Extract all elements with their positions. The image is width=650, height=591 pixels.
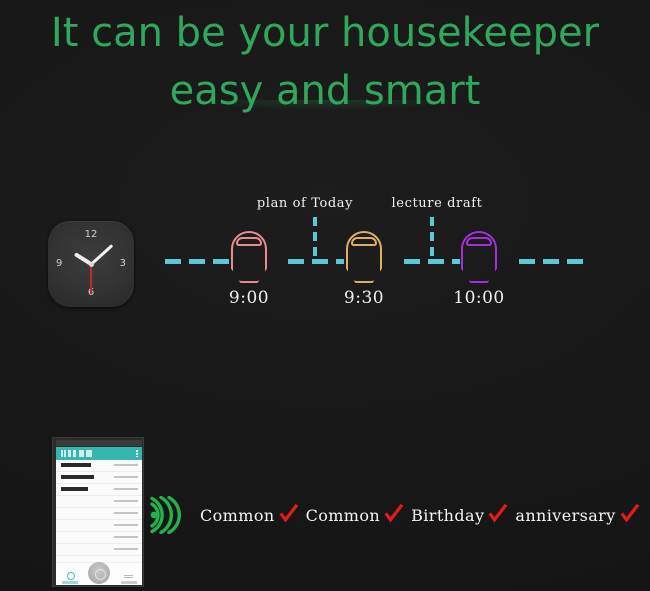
nav-record-button[interactable] [88, 562, 110, 584]
feature-item: Common [306, 503, 412, 527]
timeline-dash-segment [404, 259, 460, 264]
feature-label: anniversary [515, 506, 615, 525]
phone-screen [56, 447, 142, 585]
timeline-time: 9:00 [189, 288, 309, 308]
timeline-time: 10:00 [419, 288, 539, 308]
headline-line-1: It can be your housekeeper [0, 4, 650, 62]
signal-waves-icon [150, 496, 192, 534]
feature-label: Birthday [411, 506, 484, 525]
app-logo-icon [61, 450, 95, 457]
timeline-time: 9:30 [304, 288, 424, 308]
bell-top-arc [236, 237, 262, 246]
phone-bottom-nav[interactable] [56, 562, 142, 585]
timeline-marker-bell-icon[interactable] [231, 231, 267, 283]
list-item[interactable] [56, 460, 142, 472]
overflow-menu-icon[interactable] [136, 450, 138, 457]
timeline-dash-segment [519, 259, 591, 264]
schedule-timeline: plan of Today lecture draft 9:00 9:30 10… [0, 183, 650, 318]
page-title: It can be your housekeeper easy and smar… [0, 4, 650, 120]
feature-label: Common [200, 506, 275, 525]
check-icon [487, 503, 509, 527]
list-item[interactable] [56, 520, 142, 532]
bell-top-arc [351, 237, 377, 246]
check-icon [278, 503, 300, 527]
headline-line-2: easy and smart [0, 62, 650, 120]
check-icon [383, 503, 405, 527]
phone-mockup [52, 437, 144, 587]
nav-person-icon[interactable] [67, 572, 75, 580]
list-item[interactable] [56, 484, 142, 496]
check-icon [619, 503, 641, 527]
nav-list-icon[interactable] [124, 575, 133, 579]
timeline-label: lecture draft [337, 196, 537, 211]
feature-item: Common [200, 503, 306, 527]
timeline-connector-dash [313, 217, 317, 259]
timeline-connector-dash [430, 217, 434, 259]
list-item[interactable] [56, 508, 142, 520]
feature-item: Birthday [411, 503, 515, 527]
timeline-marker-bell-icon[interactable] [461, 231, 497, 283]
feature-label: Common [306, 506, 381, 525]
promo-banner: It can be your housekeeper easy and smar… [0, 0, 650, 591]
phone-earpiece [56, 440, 142, 446]
phone-app-bar [56, 447, 142, 460]
list-item[interactable] [56, 472, 142, 484]
list-item[interactable] [56, 532, 142, 544]
timeline-dash-segment [165, 259, 230, 264]
list-item[interactable] [56, 544, 142, 556]
nav-left-label [62, 581, 78, 584]
list-item[interactable] [56, 496, 142, 508]
timeline-marker-bell-icon[interactable] [346, 231, 382, 283]
bell-top-arc [466, 237, 492, 246]
nav-right-label [121, 581, 137, 584]
phone-reminder-list[interactable] [56, 460, 142, 552]
feature-list: Common Common Birthday anniversary [150, 492, 647, 538]
timeline-dash-segment [288, 259, 344, 264]
feature-item: anniversary [515, 503, 646, 527]
